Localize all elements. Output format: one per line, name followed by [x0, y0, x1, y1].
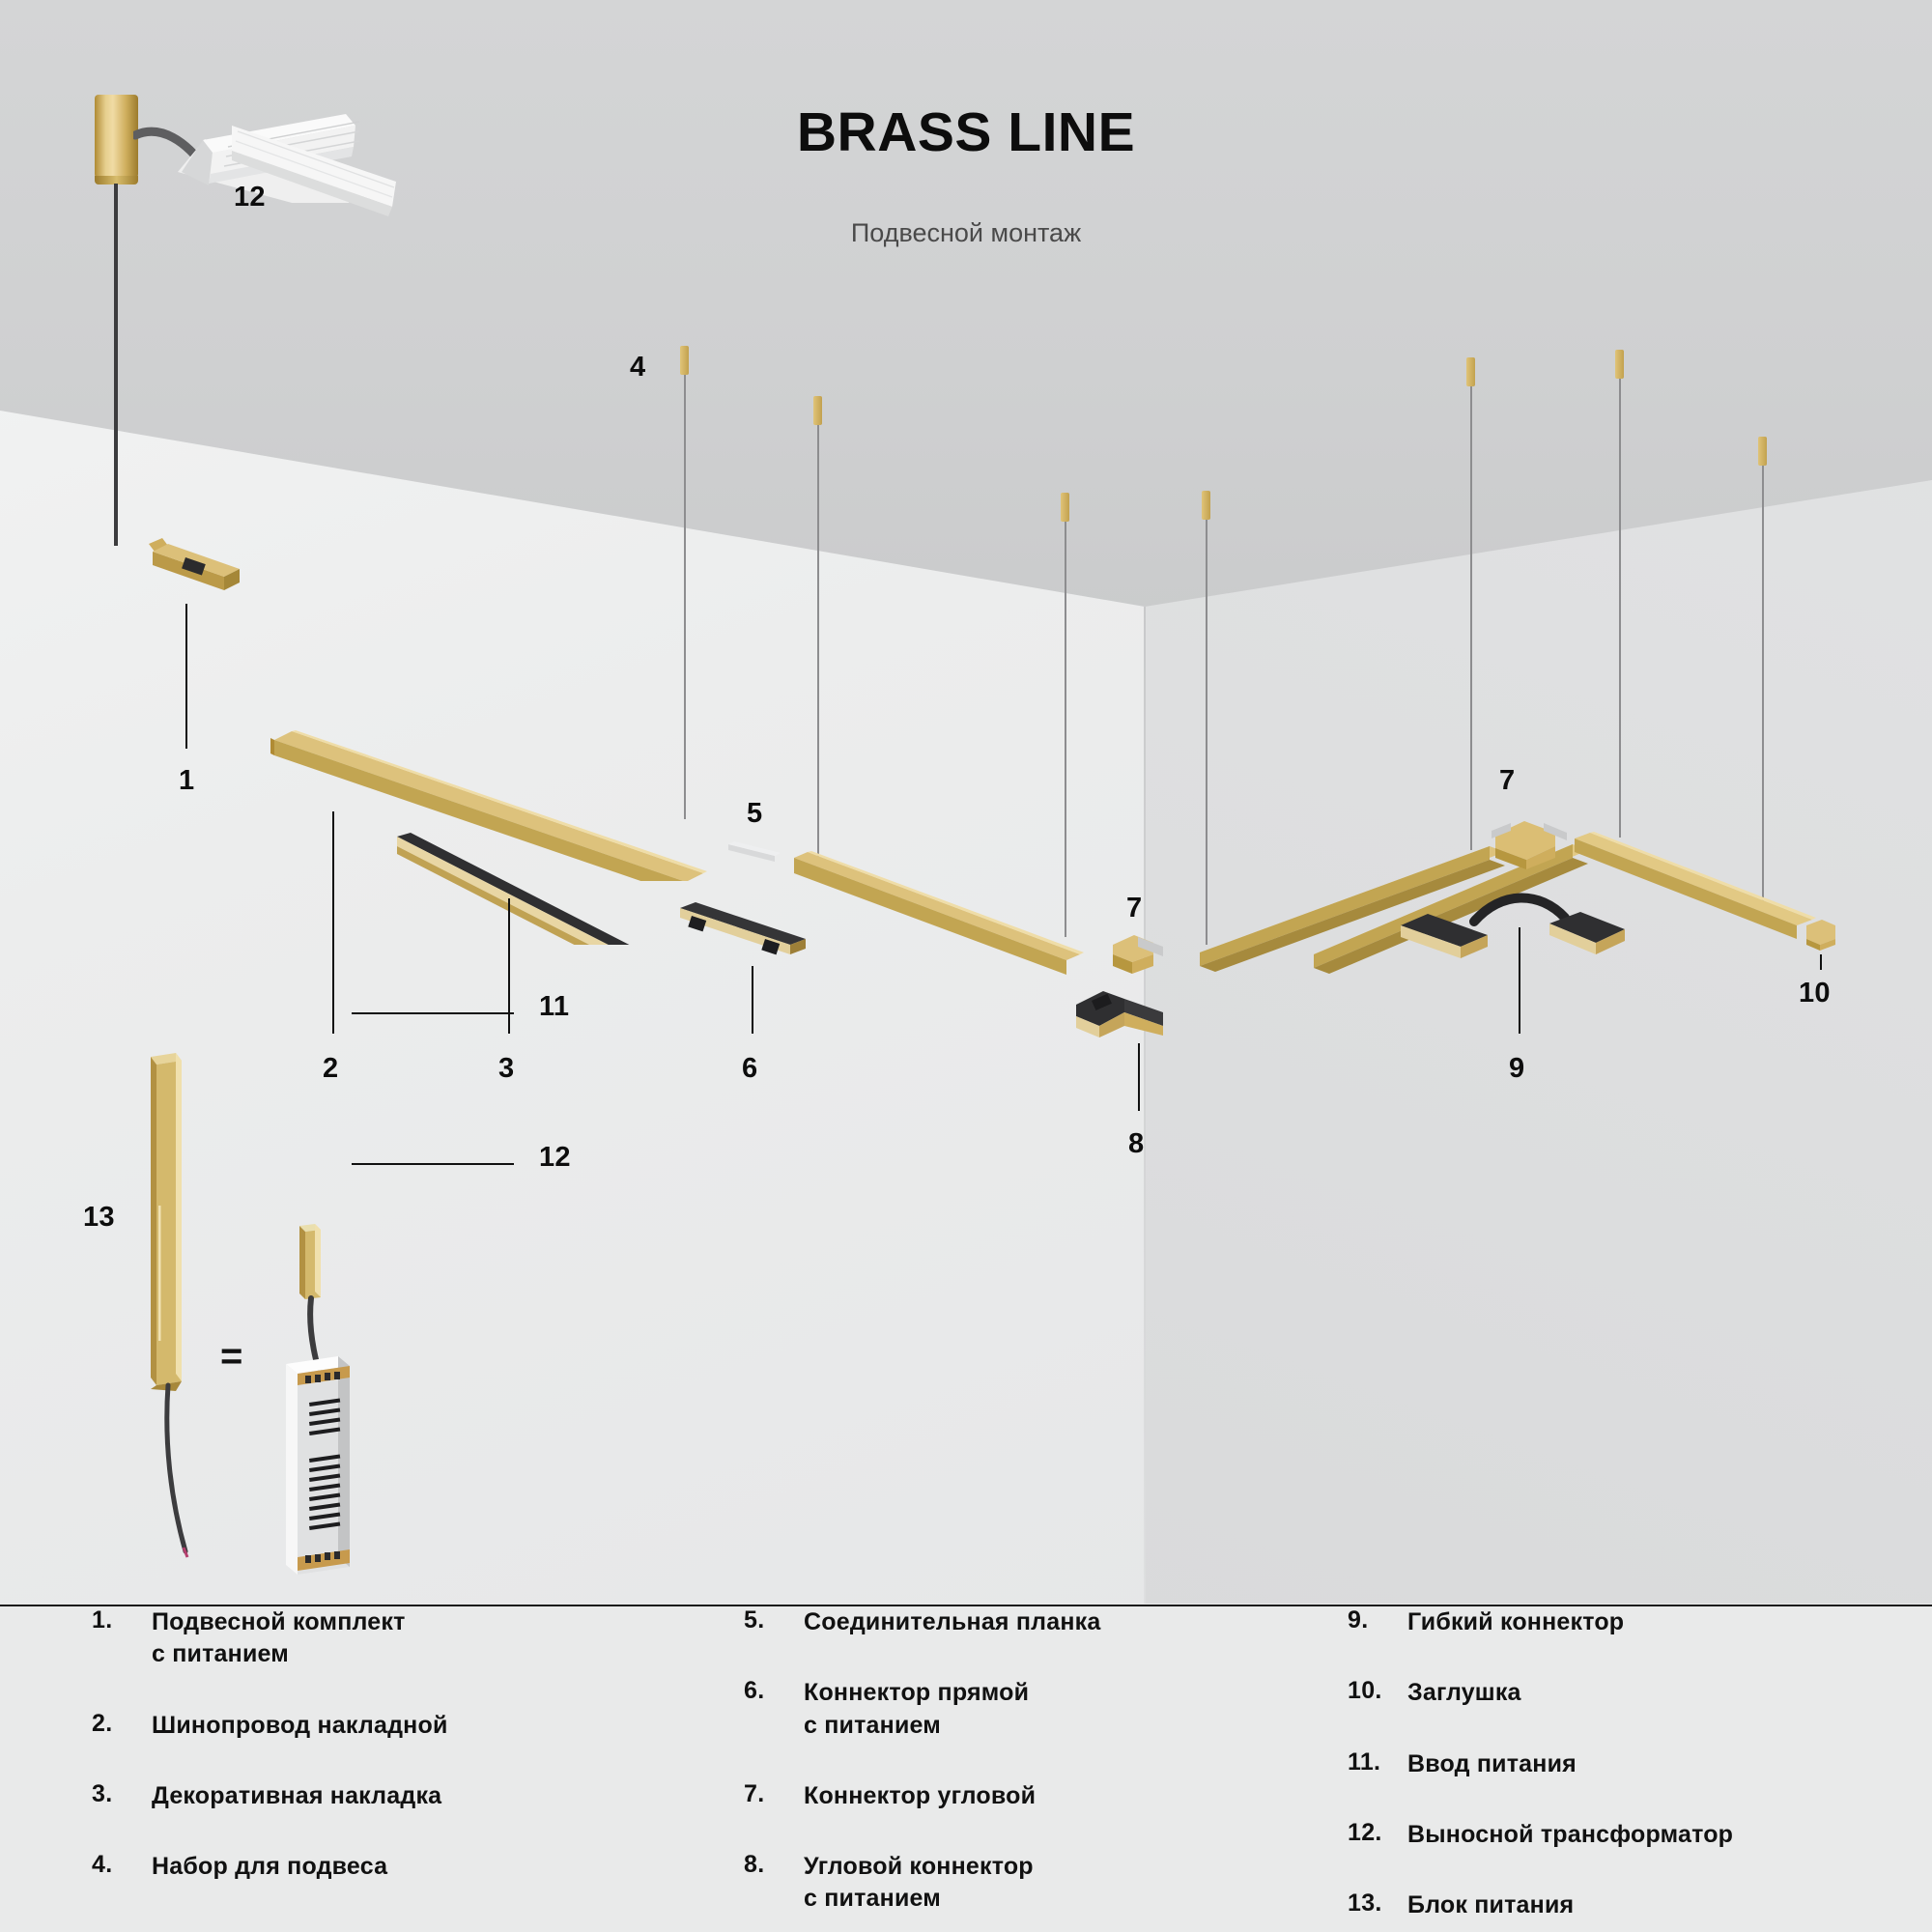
legend-item: 7.Коннектор угловой	[744, 1780, 1130, 1812]
legend-item: 5.Соединительная планка	[744, 1606, 1130, 1638]
legend-item: 11.Ввод питания	[1348, 1748, 1850, 1780]
callout-number-5: 5	[747, 798, 762, 830]
power-supply-unit-icon	[143, 1051, 211, 1418]
legend-item-number: 11.	[1348, 1748, 1407, 1776]
corner-connector-icon	[1109, 927, 1186, 985]
legend-item-number: 1.	[92, 1606, 152, 1634]
suspension-kit-power-icon	[145, 536, 261, 594]
legend-item-label: Подвесной комплектс питанием	[152, 1606, 406, 1671]
legend-item-number: 4.	[92, 1851, 152, 1879]
equals-symbol: =	[220, 1335, 242, 1378]
page-subtitle: Подвесной монтаж	[0, 218, 1932, 248]
flexible-connector-icon	[1395, 887, 1646, 993]
remote-transformer-icon	[278, 1352, 384, 1584]
power-supply-wire-icon	[141, 1381, 218, 1565]
end-cap-icon	[1803, 916, 1851, 954]
legend-panel: 1.Подвесной комплектс питанием2.Шинопров…	[0, 1606, 1932, 1932]
callout-leader-10	[1820, 954, 1822, 970]
legend-item-number: 7.	[744, 1780, 804, 1808]
legend-item: 6.Коннектор прямойс питанием	[744, 1677, 1130, 1742]
straight-power-connector-icon	[676, 898, 821, 966]
legend-item-number: 10.	[1348, 1677, 1407, 1705]
legend-column-1: 1.Подвесной комплектс питанием2.Шинопров…	[92, 1606, 536, 1921]
legend-item-label: Коннектор угловой	[804, 1780, 1036, 1812]
callout-number-1: 1	[179, 765, 194, 797]
legend-item-number: 13.	[1348, 1889, 1407, 1918]
legend-item-label: Угловой коннекторс питанием	[804, 1851, 1034, 1916]
legend-item-number: 3.	[92, 1780, 152, 1808]
callout-number-7a: 7	[1126, 893, 1142, 924]
callout-number-3: 3	[498, 1053, 514, 1085]
product-diagram-page: BRASS LINE Подвесной монтаж 12	[0, 0, 1932, 1932]
legend-item-label: Ввод питания	[1407, 1748, 1577, 1780]
legend-item-number: 2.	[92, 1710, 152, 1738]
legend-item: 2.Шинопровод накладной	[92, 1710, 536, 1742]
legend-item: 9.Гибкий коннектор	[1348, 1606, 1850, 1638]
pendant-cable	[114, 184, 118, 546]
callout-number-13: 13	[83, 1202, 115, 1234]
legend-column-2: 5.Соединительная планка6.Коннектор прямо…	[744, 1606, 1130, 1932]
callout-leader-6	[752, 966, 753, 1034]
legend-item: 12.Выносной трансформатор	[1348, 1819, 1850, 1851]
legend-item-number: 9.	[1348, 1606, 1407, 1634]
callout-leader-12	[352, 1163, 514, 1165]
corner-connector-right-icon	[1488, 811, 1584, 879]
legend-item-label: Коннектор прямойс питанием	[804, 1677, 1029, 1742]
connecting-plate-icon	[726, 838, 786, 867]
legend-item-label: Декоративная накладка	[152, 1780, 441, 1812]
callout-number-9: 9	[1509, 1053, 1524, 1085]
callout-leader-9	[1519, 927, 1520, 1034]
legend-item-number: 8.	[744, 1851, 804, 1879]
legend-item-label: Соединительная планка	[804, 1606, 1100, 1638]
legend-item-label: Гибкий коннектор	[1407, 1606, 1624, 1638]
legend-item-label: Блок питания	[1407, 1889, 1574, 1921]
callout-number-6: 6	[742, 1053, 757, 1085]
legend-item-number: 12.	[1348, 1819, 1407, 1847]
callout-number-7b: 7	[1499, 765, 1515, 797]
brass-track-rail-right-icon	[790, 848, 1099, 983]
legend-item-label: Заглушка	[1407, 1677, 1521, 1709]
callout-number-12-bottom: 12	[539, 1142, 571, 1174]
legend-column-3: 9.Гибкий коннектор10.Заглушка11.Ввод пит…	[1348, 1606, 1850, 1932]
callout-number-2: 2	[323, 1053, 338, 1085]
legend-item: 8.Угловой коннекторс питанием	[744, 1851, 1130, 1916]
callout-number-11: 11	[539, 991, 569, 1023]
callout-number-4: 4	[630, 352, 645, 384]
legend-item-number: 6.	[744, 1677, 804, 1705]
legend-item: 3.Декоративная накладка	[92, 1780, 536, 1812]
wall-corner-edge	[1144, 607, 1146, 1604]
legend-item-label: Набор для подвеса	[152, 1851, 387, 1883]
callout-leader-11	[352, 1012, 514, 1014]
legend-item-label: Выносной трансформатор	[1407, 1819, 1733, 1851]
callout-leader-1	[185, 604, 187, 749]
legend-item-number: 5.	[744, 1606, 804, 1634]
legend-item: 4.Набор для подвеса	[92, 1851, 536, 1883]
legend-item-label: Шинопровод накладной	[152, 1710, 448, 1742]
decorative-overlay-icon	[391, 829, 662, 945]
legend-item: 10.Заглушка	[1348, 1677, 1850, 1709]
callout-number-10: 10	[1799, 978, 1831, 1009]
legend-item: 13.Блок питания	[1348, 1889, 1850, 1921]
legend-item: 1.Подвесной комплектс питанием	[92, 1606, 536, 1671]
callout-leader-2	[332, 811, 334, 1034]
callout-number-8: 8	[1128, 1128, 1144, 1160]
callout-leader-8	[1138, 1043, 1140, 1111]
callout-number-12-top: 12	[234, 182, 266, 213]
